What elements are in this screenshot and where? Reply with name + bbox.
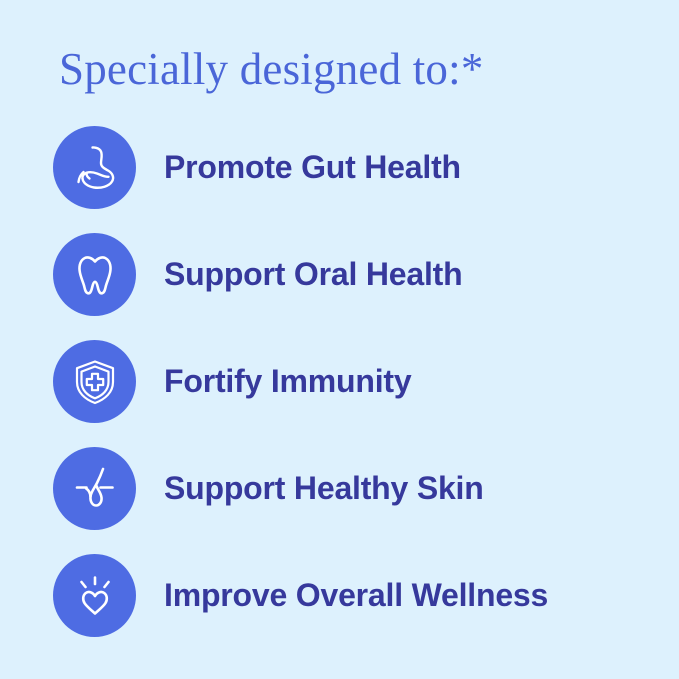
- list-item-label: Improve Overall Wellness: [164, 554, 679, 637]
- benefit-list: Promote Gut Health Support Oral Health: [0, 126, 679, 661]
- list-item-label: Fortify Immunity: [164, 340, 679, 423]
- list-item: Promote Gut Health: [0, 126, 679, 233]
- list-item: Support Oral Health: [0, 233, 679, 340]
- hair-follicle-icon: [69, 463, 121, 515]
- shining-heart-icon: [69, 570, 121, 622]
- stomach-icon: [69, 142, 121, 194]
- tooth-icon: [69, 249, 121, 301]
- icon-badge: [53, 554, 136, 637]
- list-item-label: Promote Gut Health: [164, 126, 679, 209]
- icon-badge: [53, 233, 136, 316]
- promo-graphic: Specially designed to:* Promote Gut Heal…: [0, 0, 679, 679]
- icon-badge: [53, 126, 136, 209]
- list-item-label: Support Healthy Skin: [164, 447, 679, 530]
- icon-badge: [53, 340, 136, 423]
- icon-badge: [53, 447, 136, 530]
- list-item-label: Support Oral Health: [164, 233, 679, 316]
- shield-plus-icon: [69, 356, 121, 408]
- page-title: Specially designed to:*: [59, 44, 484, 94]
- list-item: Support Healthy Skin: [0, 447, 679, 554]
- list-item: Improve Overall Wellness: [0, 554, 679, 661]
- list-item: Fortify Immunity: [0, 340, 679, 447]
